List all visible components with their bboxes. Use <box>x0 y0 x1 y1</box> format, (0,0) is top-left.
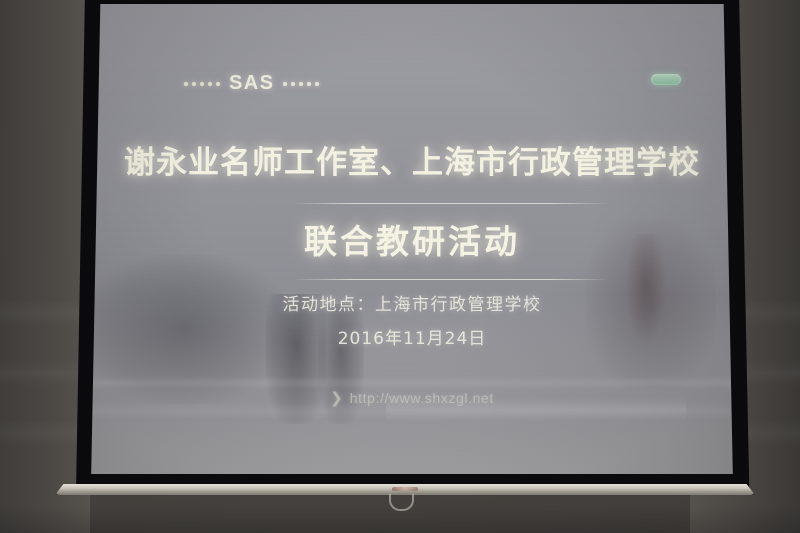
slide-venue-text: 活动地点：上海市行政管理学校 <box>86 290 738 315</box>
sas-logo: SAS <box>184 72 319 95</box>
green-indicator-icon <box>651 74 681 85</box>
chevron-right-icon: ❯ <box>330 391 343 406</box>
roller-label-mark <box>392 487 418 491</box>
projector-screen: SAS 谢永业名师工作室、上海市行政管理学校 联合教研活动 活动地点：上海市行政… <box>62 0 762 516</box>
slide-footer-url: ❯ http://www.shxzgl.net <box>86 390 738 406</box>
presentation-slide: SAS 谢永业名师工作室、上海市行政管理学校 联合教研活动 活动地点：上海市行政… <box>86 4 738 474</box>
dots-right-icon <box>283 82 319 86</box>
screen-projection-surface: SAS 谢永业名师工作室、上海市行政管理学校 联合教研活动 活动地点：上海市行政… <box>86 4 738 474</box>
slide-headline: 谢永业名师工作室、上海市行政管理学校 <box>86 137 738 182</box>
footer-url-text: http://www.shxzgl.net <box>350 390 494 406</box>
dots-left-icon <box>184 82 220 86</box>
slide-date-text: 2016年11月24日 <box>86 324 738 349</box>
divider-upper <box>296 203 606 204</box>
slide-subheadline: 联合教研活动 <box>86 215 738 263</box>
divider-lower <box>296 279 606 280</box>
sas-logo-text: SAS <box>229 72 274 95</box>
room-scene: SAS 谢永业名师工作室、上海市行政管理学校 联合教研活动 活动地点：上海市行政… <box>0 0 800 533</box>
